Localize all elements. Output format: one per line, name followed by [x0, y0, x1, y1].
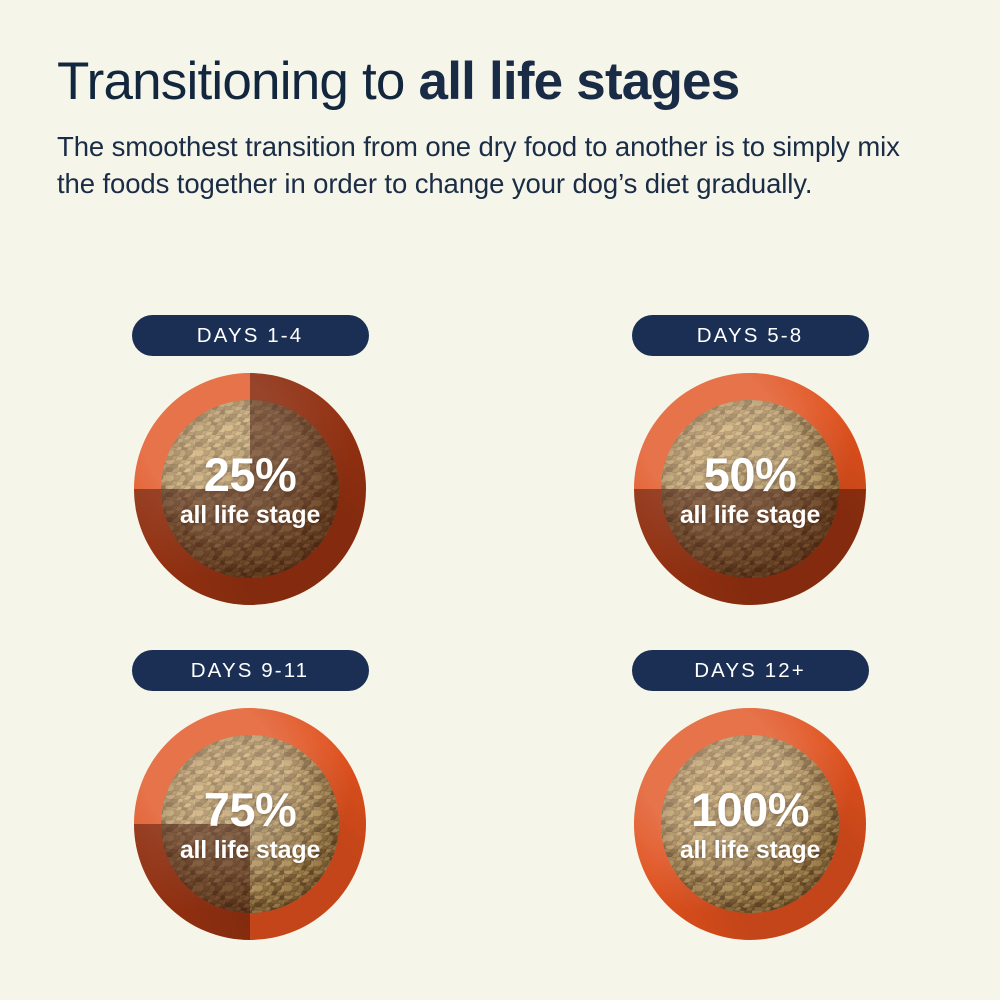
transition-infographic: Transitioning to all life stages The smo… [0, 0, 1000, 1000]
stage-card: DAYS 1-4 25% all life stage [0, 315, 500, 650]
stage-card: DAYS 9-11 75% all life stage [0, 650, 500, 985]
bowl-sheen [134, 708, 366, 940]
page-subtitle: The smoothest transition from one dry fo… [57, 129, 917, 202]
bowl-body [634, 708, 866, 940]
page-title: Transitioning to all life stages [57, 52, 957, 111]
stage-badge: DAYS 5-8 [632, 315, 869, 356]
food-bowl: 75% all life stage [134, 708, 366, 940]
food-bowl: 100% all life stage [634, 708, 866, 940]
bowl-sheen [634, 373, 866, 605]
stage-card: DAYS 5-8 50% all life stage [500, 315, 1000, 650]
bowl-body [134, 373, 366, 605]
bowl-body [134, 708, 366, 940]
stage-badge: DAYS 12+ [632, 650, 869, 691]
food-bowl: 25% all life stage [134, 373, 366, 605]
page-title-emphasis: all life stages [419, 52, 740, 111]
stage-grid: DAYS 1-4 25% all life stage DAYS 5-8 [0, 315, 1000, 985]
bowl-sheen [634, 708, 866, 940]
bowl-body [634, 373, 866, 605]
food-bowl: 50% all life stage [634, 373, 866, 605]
page-title-regular: Transitioning to [57, 52, 419, 111]
stage-badge: DAYS 1-4 [132, 315, 369, 356]
bowl-sheen [134, 373, 366, 605]
stage-badge: DAYS 9-11 [132, 650, 369, 691]
stage-card: DAYS 12+ 100% all life stage [500, 650, 1000, 985]
header: Transitioning to all life stages The smo… [57, 52, 957, 202]
